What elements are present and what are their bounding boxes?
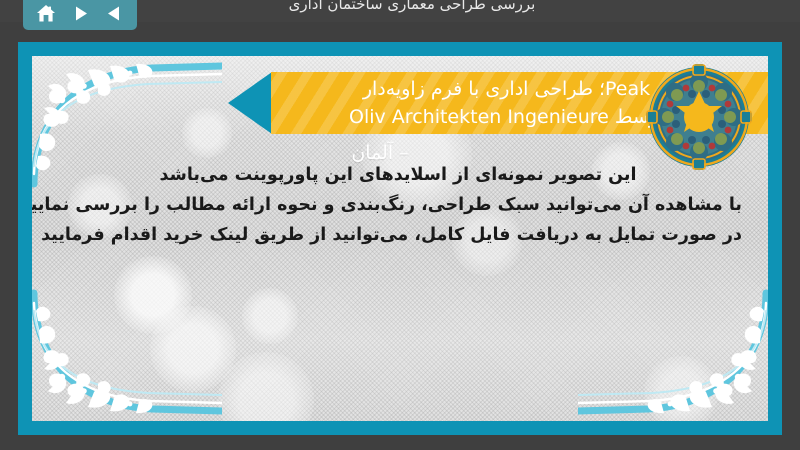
arabesque-corner-ornament-icon (32, 281, 222, 421)
home-button[interactable] (32, 1, 60, 25)
slide-frame: Peak؛ طراحی اداری با فرم زاویه‌دار توسط … (18, 42, 782, 435)
page-title: بررسی طراحی معماری ساختمان اداری (232, 0, 592, 15)
arabesque-corner-ornament-icon (578, 281, 768, 421)
next-button[interactable] (66, 1, 94, 25)
bokeh-circle (242, 288, 298, 344)
slide-body-text: این تصویر نمونه‌ای از اسلایدهای این پاور… (54, 160, 742, 250)
previous-button[interactable] (100, 1, 128, 25)
persian-medallion-icon (646, 64, 752, 170)
banner-arrow-tab (228, 72, 272, 134)
slide-preview-stage: Peak؛ طراحی اداری با فرم زاویه‌دار توسط … (0, 0, 800, 450)
slide-canvas: Peak؛ طراحی اداری با فرم زاویه‌دار توسط … (32, 56, 768, 421)
body-line: با مشاهده آن می‌توانید سبک طراحی، رنگ‌بن… (54, 190, 742, 220)
navigation-controls (23, 0, 137, 30)
body-line: در صورت تمایل به دریافت فایل کامل، می‌تو… (54, 220, 742, 250)
